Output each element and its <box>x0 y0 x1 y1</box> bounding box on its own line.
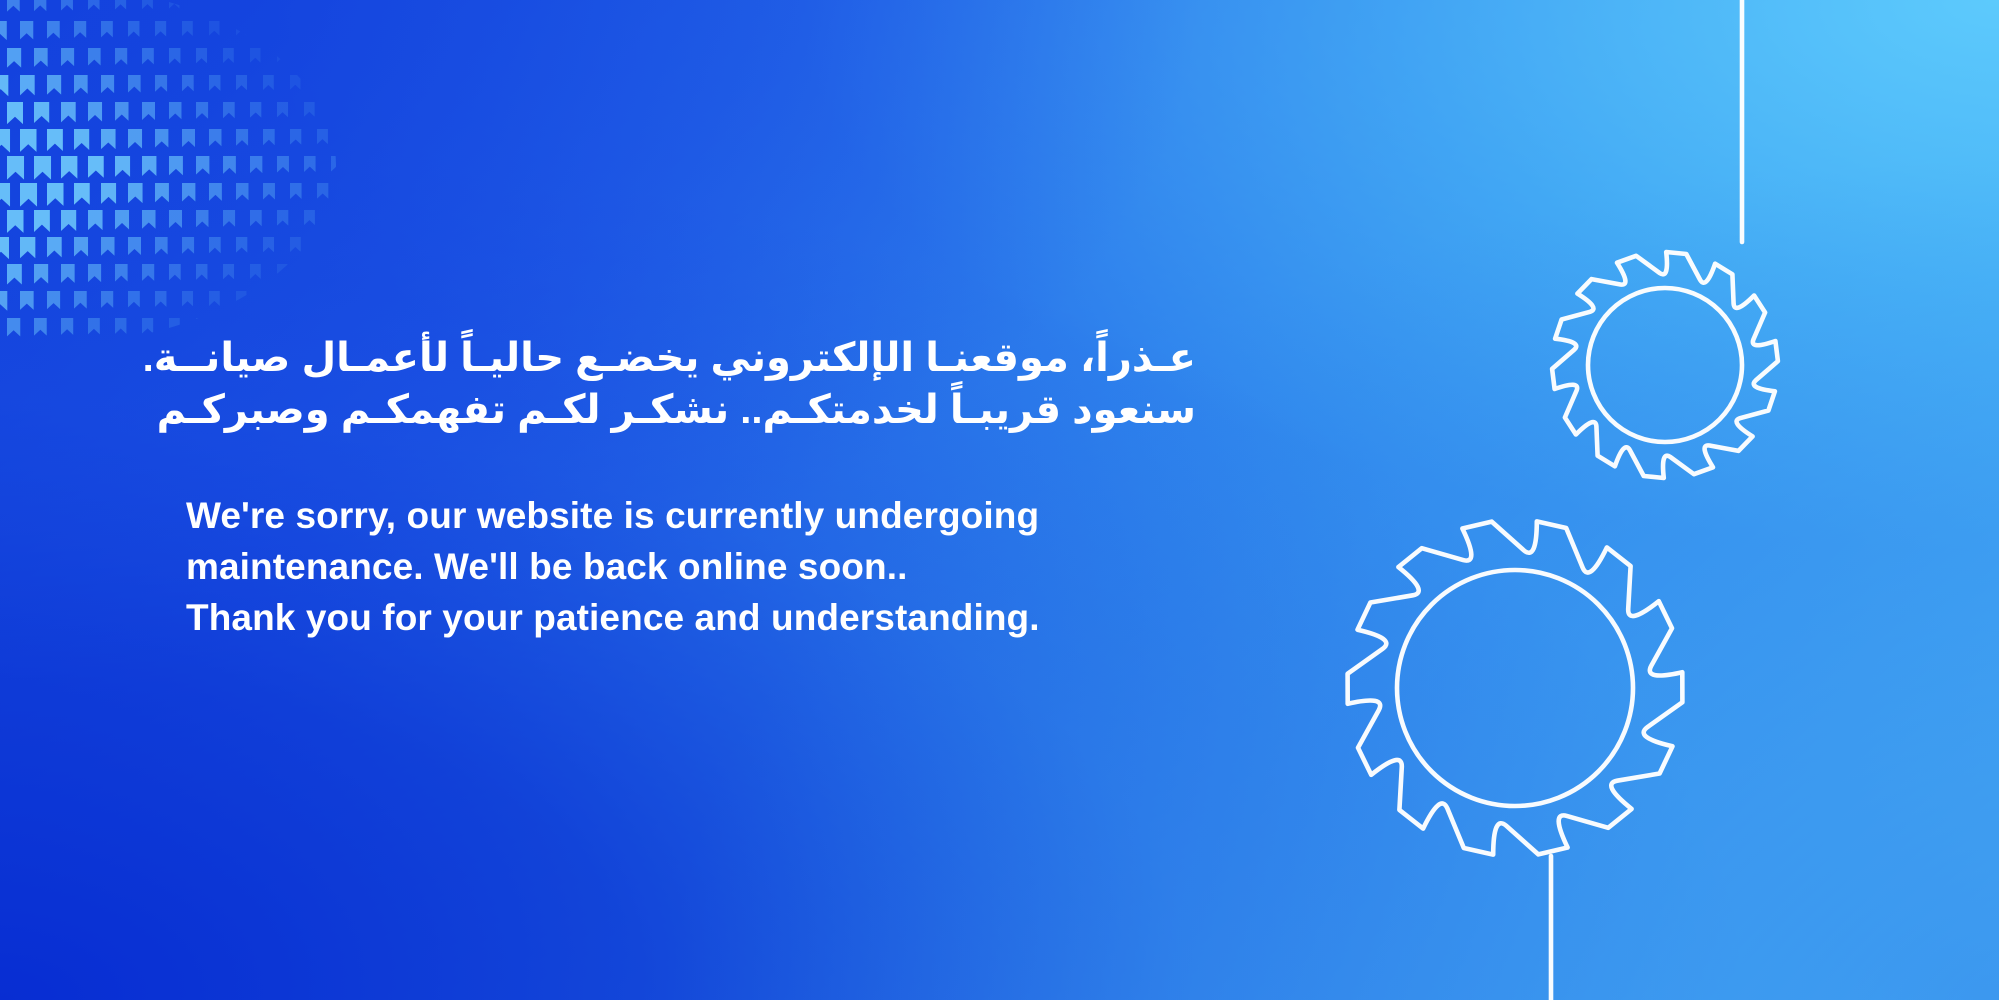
english-line-3: Thank you for your patience and understa… <box>186 592 1196 643</box>
english-line-1: We're sorry, our website is currently un… <box>186 490 1196 541</box>
maintenance-page: عـذراً، موقعنـا الإلكتروني يخضـع حاليـاً… <box>0 0 1999 1000</box>
arabic-line-1: عـذراً، موقعنـا الإلكتروني يخضـع حاليـاً… <box>186 332 1196 384</box>
message-spacer <box>186 436 1196 490</box>
english-line-2: maintenance. We'll be back online soon.. <box>186 541 1196 592</box>
english-message: We're sorry, our website is currently un… <box>186 490 1196 643</box>
arabic-message: عـذراً، موقعنـا الإلكتروني يخضـع حاليـاً… <box>186 332 1196 436</box>
arabic-line-2: سنعود قريبـاً لخدمتكـم.. نشكـر لكـم تفهم… <box>186 384 1196 436</box>
message-block: عـذراً، موقعنـا الإلكتروني يخضـع حاليـاً… <box>186 332 1196 643</box>
